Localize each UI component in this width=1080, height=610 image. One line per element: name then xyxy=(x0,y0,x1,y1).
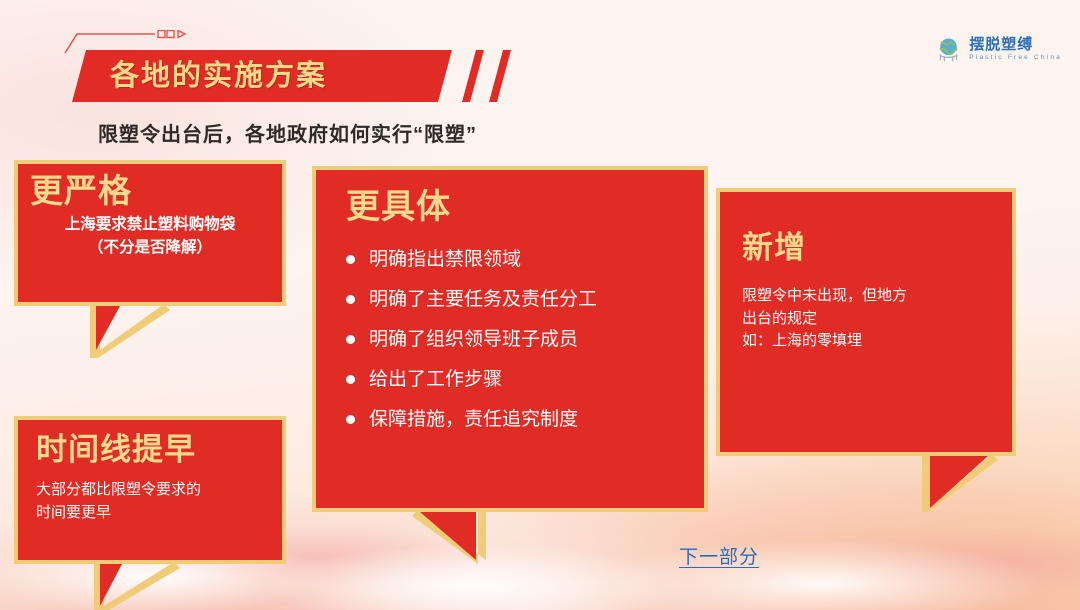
card-stricter: 更严格 上海要求禁止塑料购物袋 （不分是否降解） xyxy=(14,160,286,306)
card-stricter-line-2: （不分是否降解） xyxy=(30,236,270,259)
card-specific-heading: 更具体 xyxy=(346,190,682,224)
list-item: 明确了主要任务及责任分工 xyxy=(346,290,682,309)
list-item: 明确了组织领导班子成员 xyxy=(346,330,682,349)
bullet-dot-icon xyxy=(346,415,355,424)
card-timeline-content: 时间线提早 大部分都比限塑令要求的 时间要更早 xyxy=(14,416,286,564)
card-timeline: 时间线提早 大部分都比限塑令要求的 时间要更早 xyxy=(14,416,286,564)
card-added-line-2: 出台的规定 xyxy=(742,308,994,331)
list-item: 给出了工作步骤 xyxy=(346,370,682,389)
slide-root: 各地的实施方案 限塑令出台后，各地政府如何实行“限塑” 摆脱塑缚 Plastic… xyxy=(0,0,1080,610)
next-section-link[interactable]: 下一部分 xyxy=(679,542,759,569)
card-timeline-heading: 时间线提早 xyxy=(36,434,266,465)
card-timeline-line-1: 大部分都比限塑令要求的 xyxy=(36,479,266,502)
bullet-label: 明确指出禁限领域 xyxy=(369,250,521,269)
title-banner: 各地的实施方案 xyxy=(72,50,452,102)
card-timeline-line-2: 时间要更早 xyxy=(36,502,266,525)
card-specific-content: 更具体 明确指出禁限领域 明确了主要任务及责任分工 明确了组织领导班子成员 给出… xyxy=(312,166,708,512)
card-added: 新增 限塑令中未出现，但地方 出台的规定 如：上海的零填埋 xyxy=(716,188,1016,456)
bullet-dot-icon xyxy=(346,375,355,384)
card-added-tail xyxy=(930,456,988,508)
page-title: 各地的实施方案 xyxy=(110,62,327,91)
bullet-dot-icon xyxy=(346,295,355,304)
bullet-dot-icon xyxy=(346,255,355,264)
card-stricter-tail xyxy=(96,306,160,350)
list-item: 保障措施，责任追究制度 xyxy=(346,410,682,429)
bullet-label: 明确了主要任务及责任分工 xyxy=(369,290,597,309)
banner-slash-1 xyxy=(462,50,484,102)
bullet-label: 保障措施，责任追究制度 xyxy=(369,410,578,429)
globe-icon xyxy=(935,36,962,63)
brand-logo: 摆脱塑缚 Plastic Free China xyxy=(935,36,1062,63)
list-item: 明确指出禁限领域 xyxy=(346,250,682,269)
card-stricter-heading: 更严格 xyxy=(30,174,270,207)
logo-wordmark: 摆脱塑缚 Plastic Free China xyxy=(969,37,1062,62)
card-specific-bullet-list: 明确指出禁限领域 明确了主要任务及责任分工 明确了组织领导班子成员 给出了工作步… xyxy=(346,250,682,429)
card-stricter-line-1: 上海要求禁止塑料购物袋 xyxy=(30,213,270,236)
card-added-line-3: 如：上海的零填埋 xyxy=(742,330,994,353)
card-timeline-tail xyxy=(100,564,168,606)
logo-name-cn: 摆脱塑缚 xyxy=(969,37,1062,52)
card-stricter-content: 更严格 上海要求禁止塑料购物袋 （不分是否降解） xyxy=(14,160,286,306)
card-added-content: 新增 限塑令中未出现，但地方 出台的规定 如：上海的零填埋 xyxy=(716,188,1016,456)
banner-slash-2 xyxy=(489,50,511,102)
card-specific-tail xyxy=(420,512,476,560)
page-subtitle: 限塑令出台后，各地政府如何实行“限塑” xyxy=(98,118,477,147)
card-added-line-1: 限塑令中未出现，但地方 xyxy=(742,285,994,308)
logo-name-en: Plastic Free China xyxy=(969,55,1062,62)
card-added-heading: 新增 xyxy=(742,232,994,263)
card-specific: 更具体 明确指出禁限领域 明确了主要任务及责任分工 明确了组织领导班子成员 给出… xyxy=(312,166,708,512)
bullet-dot-icon xyxy=(346,335,355,344)
bullet-label: 给出了工作步骤 xyxy=(369,370,502,389)
bullet-label: 明确了组织领导班子成员 xyxy=(369,330,578,349)
